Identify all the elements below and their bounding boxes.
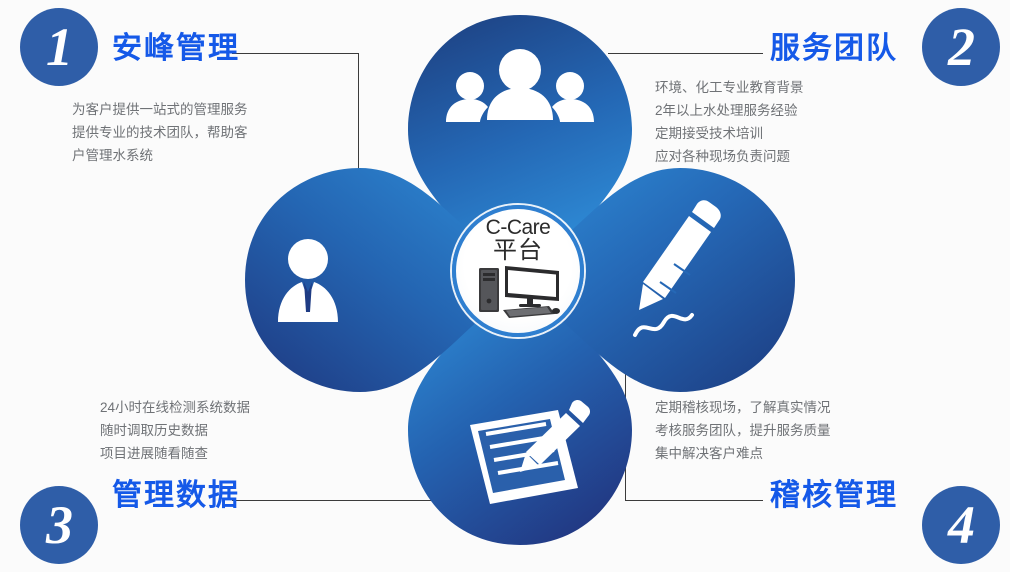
section-body-1-line: 为客户提供一站式的管理服务 <box>72 98 248 121</box>
section-body-3-line: 24小时在线检测系统数据 <box>100 396 250 419</box>
section-body-1: 为客户提供一站式的管理服务 提供专业的技术团队，帮助客 户管理水系统 <box>72 98 248 167</box>
desktop-computer-icon <box>475 264 561 320</box>
section-number-4-label: 4 <box>948 498 974 552</box>
section-number-2-label: 2 <box>948 20 974 74</box>
section-title-3: 管理数据 <box>112 470 240 514</box>
section-body-1-line: 户管理水系统 <box>72 144 248 167</box>
hub-title-platform: 平台 <box>493 239 543 263</box>
section-title-1: 安峰管理 <box>112 23 240 67</box>
section-number-1: 1 <box>20 8 98 86</box>
section-number-2: 2 <box>922 8 1000 86</box>
section-number-3-label: 3 <box>46 498 72 552</box>
section-body-3: 24小时在线检测系统数据 随时调取历史数据 项目进展随看随查 <box>100 396 250 465</box>
section-body-3-line: 随时调取历史数据 <box>100 419 250 442</box>
section-body-1-line: 提供专业的技术团队，帮助客 <box>72 121 248 144</box>
section-body-3-line: 项目进展随看随查 <box>100 442 250 465</box>
center-hub: C-Care 平台 <box>452 205 584 337</box>
infographic-canvas: 服务 团队 安峰 管理 稽核 管理 管理 数据 C-Care 平台 <box>0 0 1010 572</box>
section-number-1-label: 1 <box>46 20 72 74</box>
section-number-4: 4 <box>922 486 1000 564</box>
section-number-3: 3 <box>20 486 98 564</box>
hub-title-ccare: C-Care <box>486 217 551 239</box>
